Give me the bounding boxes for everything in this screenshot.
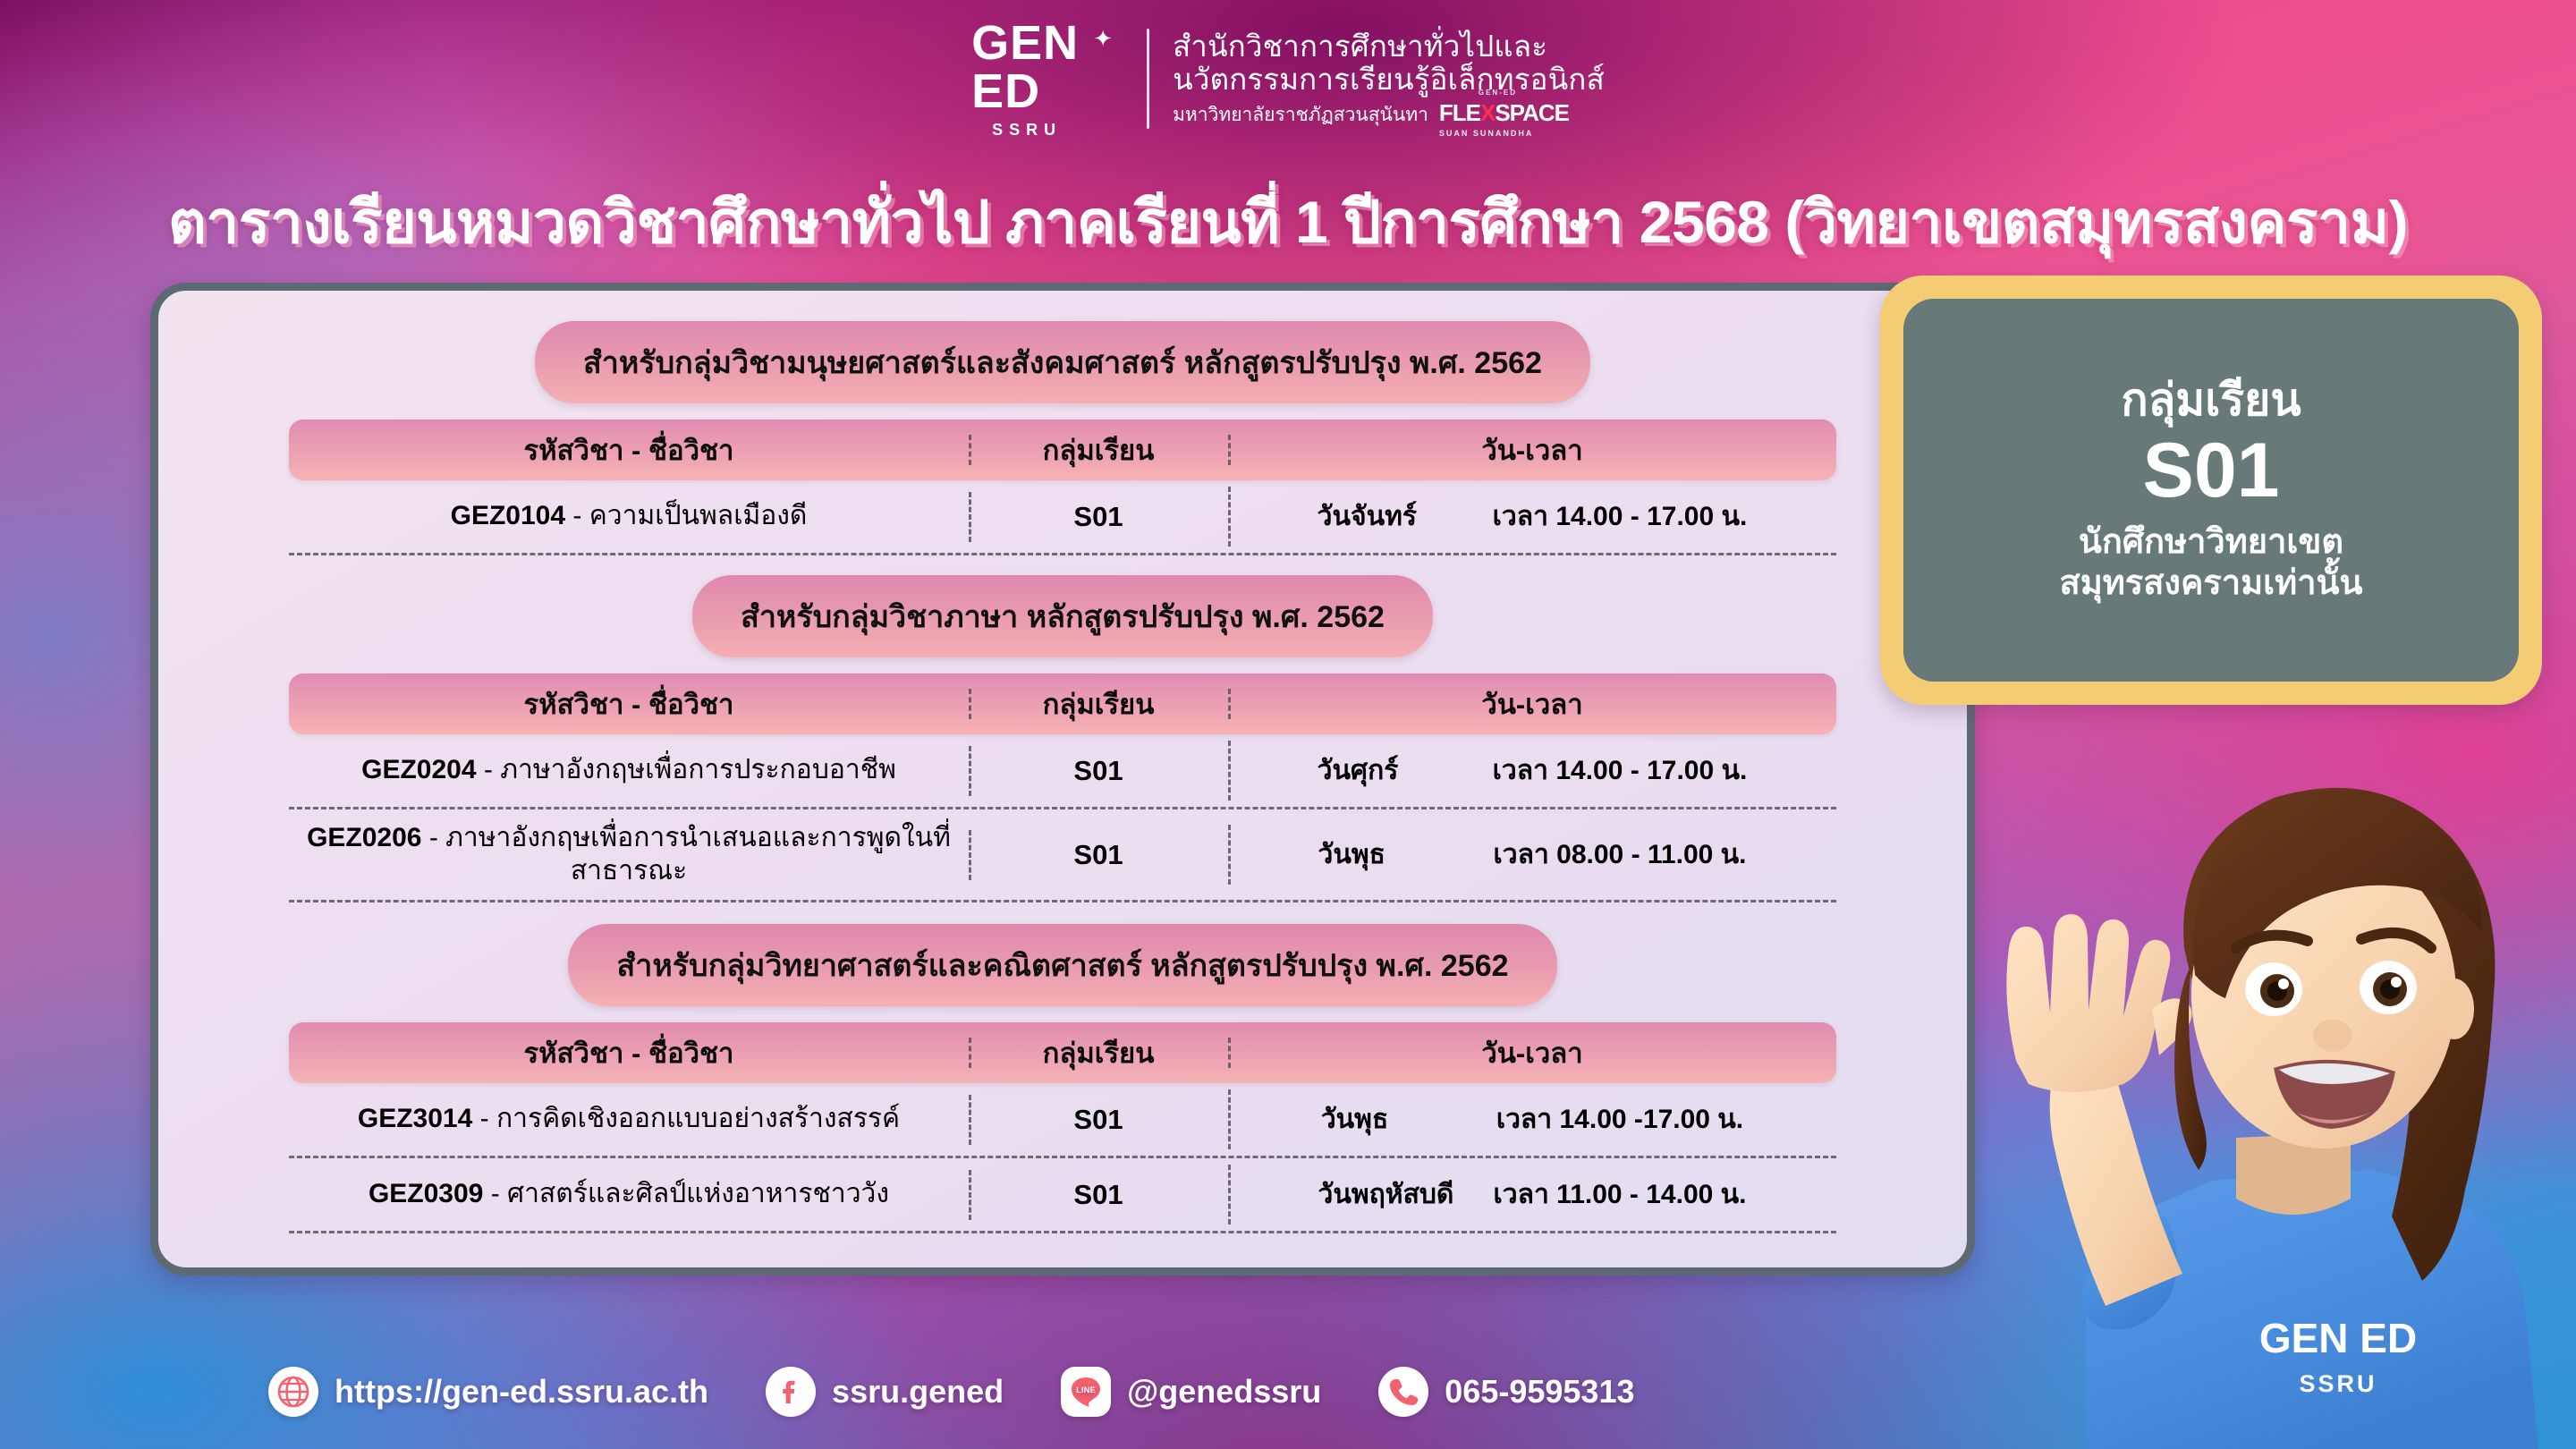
col-header-time: วัน-เวลา: [1228, 682, 1836, 726]
contact-footer: https://gen-ed.ssru.ac.th ssru.gened LIN…: [268, 1367, 1634, 1417]
website-url: https://gen-ed.ssru.ac.th: [335, 1373, 708, 1411]
mascot-neck: [2236, 1132, 2351, 1215]
course-name: - ศาสตร์และศิลป์แห่งอาหารชาววัง: [483, 1179, 889, 1208]
col-header-code: รหัสวิชา - ชื่อวิชา: [289, 1030, 969, 1075]
line-handle: @genedssru: [1127, 1373, 1321, 1411]
schedule-time: เวลา 14.00 - 17.00 น.: [1493, 496, 1748, 538]
schedule-time: เวลา 14.00 - 17.00 น.: [1493, 750, 1748, 792]
org-line-1: สำนักวิชาการศึกษาทั่วไปและ: [1173, 30, 1605, 64]
course-code: GEZ0309: [369, 1179, 483, 1208]
logo-divider: [1147, 29, 1149, 129]
mascot-teeth: [2279, 1063, 2390, 1084]
table-row: GEZ0309 - ศาสตร์และศิลป์แห่งอาหารชาววัง …: [289, 1158, 1836, 1233]
cell-course: GEZ0206 - ภาษาอังกฤษเพื่อการนำเสนอและการ…: [289, 811, 969, 898]
col-header-code: รหัสวิชา - ชื่อวิชา: [289, 428, 969, 472]
org-line-2: นวัตกรรมการเรียนรู้อิเล็กทรอนิกส์: [1173, 64, 1605, 97]
flexspace-x: X: [1480, 99, 1495, 126]
cell-course: GEZ0204 - ภาษาอังกฤษเพื่อการประกอบอาชีพ: [289, 743, 969, 798]
mascot-eyebrow-left: [2236, 936, 2308, 948]
flexspace-logo: GEN-ED FLEXSPACE SUAN SUNANDHA: [1439, 100, 1569, 126]
schedule-day: วันพุธ: [1321, 1098, 1473, 1140]
line-icon: LINE: [1061, 1367, 1111, 1417]
schedule-day: วันจันทร์: [1318, 496, 1470, 538]
cell-section: S01: [969, 828, 1228, 882]
schedule-day: วันศุกร์: [1318, 750, 1470, 792]
cell-course: GEZ0309 - ศาสตร์และศิลป์แห่งอาหารชาววัง: [289, 1167, 969, 1222]
schedule-time: เวลา 11.00 - 14.00 น.: [1494, 1174, 1747, 1216]
globe-icon: [268, 1367, 318, 1417]
mascot-shirt: [2086, 1170, 2538, 1449]
schedule-table-humanities: รหัสวิชา - ชื่อวิชา กลุ่มเรียน วัน-เวลา …: [289, 419, 1836, 555]
course-name: - ความเป็นพลเมืองดี: [565, 501, 807, 530]
cell-section: S01: [969, 1168, 1228, 1222]
col-header-time: วัน-เวลา: [1228, 428, 1836, 472]
flexspace-fle: FLE: [1439, 99, 1480, 126]
phone-number: 065-9595313: [1445, 1373, 1634, 1411]
cell-section: S01: [969, 490, 1228, 544]
sparkle-icon: ✦: [1093, 27, 1113, 50]
logo-subtext: SSRU: [992, 121, 1062, 140]
mascot-eye-left: [2245, 962, 2302, 1016]
course-name: - ภาษาอังกฤษเพื่อการประกอบอาชีพ: [477, 755, 896, 784]
org-line-3-row: มหาวิทยาลัยราชภัฏสวนสุนันทา GEN-ED FLEXS…: [1173, 100, 1605, 126]
callout-note-line-2: สมุทรสงครามเท่านั้น: [2060, 563, 2363, 604]
schedule-panel: สำหรับกลุ่มวิชามนุษยศาสตร์และสังคมศาสตร์…: [150, 283, 1975, 1275]
facebook-handle: ssru.gened: [832, 1373, 1004, 1411]
course-code: GEZ0206: [307, 823, 421, 852]
col-header-time: วัน-เวลา: [1228, 1030, 1836, 1075]
contact-phone[interactable]: 065-9595313: [1378, 1367, 1634, 1417]
table-header-row: รหัสวิชา - ชื่อวิชา กลุ่มเรียน วัน-เวลา: [289, 419, 1836, 480]
col-header-section: กลุ่มเรียน: [969, 1030, 1228, 1075]
table-header-row: รหัสวิชา - ชื่อวิชา กลุ่มเรียน วัน-เวลา: [289, 1022, 1836, 1083]
schedule-day: วันพุธ: [1318, 834, 1470, 876]
course-code: GEZ3014: [358, 1104, 472, 1133]
cell-section: S01: [969, 1093, 1228, 1147]
schedule-time: เวลา 08.00 - 11.00 น.: [1494, 834, 1747, 876]
col-header-code: รหัสวิชา - ชื่อวิชา: [289, 682, 969, 726]
table-row: GEZ0204 - ภาษาอังกฤษเพื่อการประกอบอาชีพ …: [289, 734, 1836, 809]
callout-label: กลุ่มเรียน: [2121, 377, 2301, 424]
mascot-eyebrow-right: [2361, 933, 2431, 948]
svg-text:LINE: LINE: [1076, 1385, 1096, 1395]
course-name: - ภาษาอังกฤษเพื่อการนำเสนอและการพูดในที่…: [421, 823, 950, 885]
mascot-ear: [2435, 979, 2474, 1039]
schedule-table-language: รหัสวิชา - ชื่อวิชา กลุ่มเรียน วัน-เวลา …: [289, 674, 1836, 902]
flexspace-sub-label: SUAN SUNANDHA: [1439, 129, 1534, 138]
brand-header: ✦ GEN ED SSRU สำนักวิชาการศึกษาทั่วไปและ…: [0, 7, 2576, 150]
section-callout-inner: กลุ่มเรียน S01 นักศึกษาวิทยาเขต สมุทรสงค…: [1903, 299, 2519, 682]
table-row: GEZ0104 - ความเป็นพลเมืองดี S01 วันจันทร…: [289, 480, 1836, 555]
contact-line[interactable]: LINE @genedssru: [1061, 1367, 1321, 1417]
cell-schedule: วันศุกร์ เวลา 14.00 - 17.00 น.: [1228, 739, 1836, 802]
section-heading-science: สำหรับกลุ่มวิทยาศาสตร์และคณิตศาสตร์ หลัก…: [568, 924, 1556, 1006]
table-row: GEZ0206 - ภาษาอังกฤษเพื่อการนำเสนอและการ…: [289, 809, 1836, 902]
cell-schedule: วันพุธ เวลา 14.00 -17.00 น.: [1228, 1088, 1836, 1151]
university-name: มหาวิทยาลัยราชภัฏสวนสุนันทา: [1173, 105, 1428, 126]
gened-logo: ✦ GEN ED SSRU: [971, 21, 1123, 136]
table-header-row: รหัสวิชา - ชื่อวิชา กลุ่มเรียน วัน-เวลา: [289, 674, 1836, 734]
mascot-shirt-wordmark: GEN ED: [2259, 1315, 2417, 1361]
mascot-hand: [2006, 914, 2191, 1092]
cell-section: S01: [969, 744, 1228, 798]
flexspace-top-label: GEN-ED: [1479, 89, 1517, 97]
course-name: - การคิดเชิงออกแบบอย่างสร้างสรรค์: [472, 1104, 900, 1133]
callout-note-line-1: นักศึกษาวิทยาเขต: [2079, 521, 2343, 563]
section-heading-language: สำหรับกลุ่มวิชาภาษา หลักสูตรปรับปรุง พ.ศ…: [692, 575, 1433, 657]
mascot-hair-back: [2183, 788, 2495, 1281]
col-header-section: กลุ่มเรียน: [969, 428, 1228, 472]
course-code: GEZ0104: [451, 501, 565, 530]
mascot-nose: [2313, 1020, 2352, 1052]
facebook-icon: [766, 1367, 816, 1417]
flexspace-space: SPACE: [1495, 99, 1569, 126]
org-name-block: สำนักวิชาการศึกษาทั่วไปและ นวัตกรรมการเร…: [1173, 30, 1605, 126]
page-title: ตารางเรียนหมวดวิชาศึกษาทั่วไป ภาคเรียนที…: [0, 175, 2576, 269]
mascot-face: [2191, 841, 2456, 1148]
cell-schedule: วันจันทร์ เวลา 14.00 - 17.00 น.: [1228, 485, 1836, 548]
course-code: GEZ0204: [361, 755, 476, 784]
poster-canvas: ✦ GEN ED SSRU สำนักวิชาการศึกษาทั่วไปและ…: [0, 0, 2576, 1449]
schedule-table-science: รหัสวิชา - ชื่อวิชา กลุ่มเรียน วัน-เวลา …: [289, 1022, 1836, 1233]
mascot-sleeve: [2082, 1216, 2177, 1329]
contact-facebook[interactable]: ssru.gened: [766, 1367, 1004, 1417]
cell-schedule: วันพฤหัสบดี เวลา 11.00 - 14.00 น.: [1228, 1163, 1836, 1226]
mascot-hair-front: [2193, 797, 2481, 998]
callout-section-code: S01: [2142, 432, 2279, 511]
mascot-shirt-logo: GEN ED SSRU: [2259, 1315, 2417, 1397]
contact-website[interactable]: https://gen-ed.ssru.ac.th: [268, 1367, 708, 1417]
mascot-mouth: [2274, 1060, 2395, 1129]
mascot-eye-right: [2360, 961, 2417, 1014]
mascot-arm: [2050, 1045, 2182, 1306]
schedule-day: วันพฤหัสบดี: [1318, 1174, 1470, 1216]
section-heading-humanities: สำหรับกลุ่มวิชามนุษยศาสตร์และสังคมศาสตร์…: [535, 321, 1590, 403]
table-row: GEZ3014 - การคิดเชิงออกแบบอย่างสร้างสรรค…: [289, 1083, 1836, 1158]
cell-schedule: วันพุธ เวลา 08.00 - 11.00 น.: [1228, 823, 1836, 886]
col-header-section: กลุ่มเรียน: [969, 682, 1228, 726]
cell-course: GEZ3014 - การคิดเชิงออกแบบอย่างสร้างสรรค…: [289, 1092, 969, 1147]
cell-course: GEZ0104 - ความเป็นพลเมืองดี: [289, 489, 969, 544]
schedule-time: เวลา 14.00 -17.00 น.: [1496, 1098, 1743, 1140]
mascot-shirt-subtext: SSRU: [2299, 1370, 2377, 1397]
section-callout-card: กลุ่มเรียน S01 นักศึกษาวิทยาเขต สมุทรสงค…: [1880, 275, 2542, 705]
phone-icon: [1378, 1367, 1428, 1417]
mascot-tongue: [2297, 1113, 2370, 1123]
mascot-hair-side: [2174, 964, 2207, 1170]
